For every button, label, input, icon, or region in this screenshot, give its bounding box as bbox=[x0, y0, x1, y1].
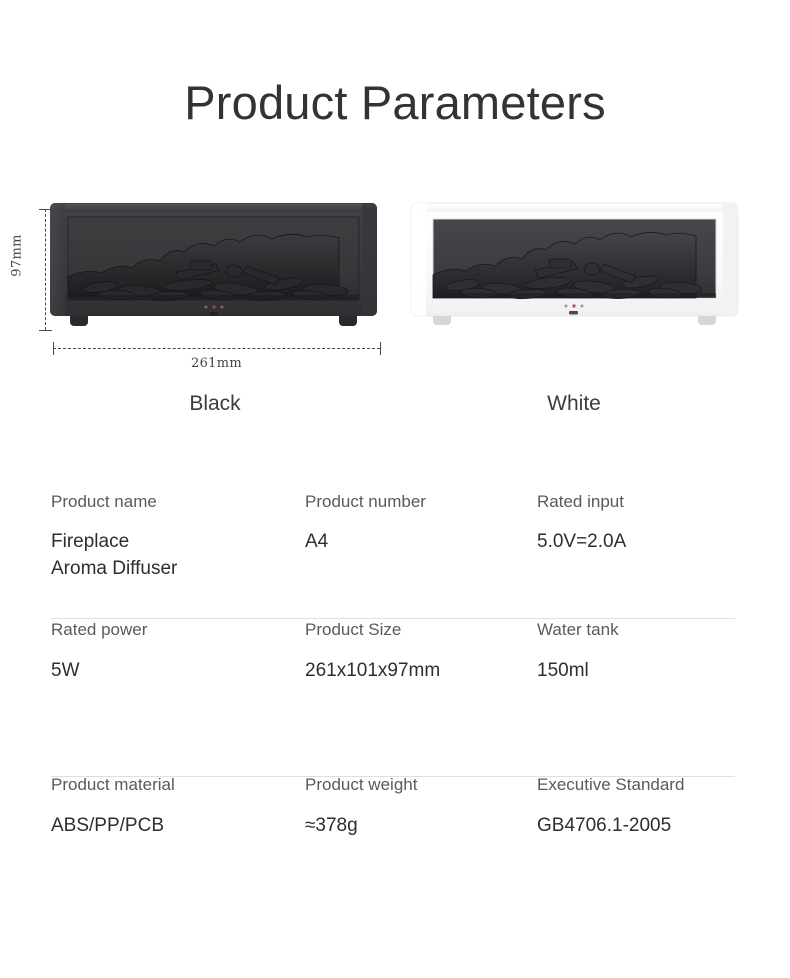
spec-cell-product-name: Product name Fireplace Aroma Diffuser bbox=[51, 490, 305, 582]
table-row: Rated power 5W Product Size 261x101x97mm… bbox=[51, 618, 735, 773]
width-dimension-line bbox=[53, 348, 380, 349]
spec-cell-product-number: Product number A4 bbox=[305, 490, 537, 582]
table-row: Product material ABS/PP/PCB Product weig… bbox=[51, 773, 735, 863]
page-title: Product Parameters bbox=[0, 74, 790, 132]
height-dimension-cap-bottom bbox=[39, 330, 52, 331]
product-image-white bbox=[409, 199, 740, 332]
spec-label: Water tank bbox=[537, 618, 735, 642]
spec-value: Fireplace Aroma Diffuser bbox=[51, 514, 305, 582]
spec-cell-product-size: Product Size 261x101x97mm bbox=[305, 618, 537, 684]
spec-label: Rated input bbox=[537, 490, 735, 514]
spec-value: 5.0V=2.0A bbox=[537, 514, 735, 555]
spec-value: 261x101x97mm bbox=[305, 642, 537, 684]
color-caption-black: Black bbox=[115, 390, 315, 418]
spec-value: A4 bbox=[305, 514, 537, 555]
spec-cell-executive-standard: Executive Standard GB4706.1-2005 bbox=[537, 773, 735, 839]
width-dimension-cap-right bbox=[380, 342, 381, 355]
specification-table: Product name Fireplace Aroma Diffuser Pr… bbox=[51, 490, 735, 863]
spec-cell-rated-power: Rated power 5W bbox=[51, 618, 305, 684]
table-row: Product name Fireplace Aroma Diffuser Pr… bbox=[51, 490, 735, 618]
spec-cell-water-tank: Water tank 150ml bbox=[537, 618, 735, 684]
height-dimension-label: 97mm bbox=[10, 226, 25, 286]
color-caption-white: White bbox=[474, 390, 674, 418]
height-dimension-line bbox=[45, 209, 46, 330]
spec-value: ABS/PP/PCB bbox=[51, 797, 305, 839]
row-divider bbox=[51, 776, 735, 777]
spec-value: GB4706.1-2005 bbox=[537, 797, 735, 839]
spec-cell-product-material: Product material ABS/PP/PCB bbox=[51, 773, 305, 839]
product-image-black bbox=[48, 199, 379, 332]
width-dimension-label: 261mm bbox=[53, 356, 380, 371]
spec-value: 150ml bbox=[537, 642, 735, 684]
spec-value: ≈378g bbox=[305, 797, 537, 839]
spec-label: Product number bbox=[305, 490, 537, 514]
spec-cell-rated-input: Rated input 5.0V=2.0A bbox=[537, 490, 735, 582]
spec-cell-product-weight: Product weight ≈378g bbox=[305, 773, 537, 839]
spec-label: Product Size bbox=[305, 618, 537, 642]
spec-label: Product name bbox=[51, 490, 305, 514]
spec-label: Rated power bbox=[51, 618, 305, 642]
spec-value: 5W bbox=[51, 642, 305, 684]
